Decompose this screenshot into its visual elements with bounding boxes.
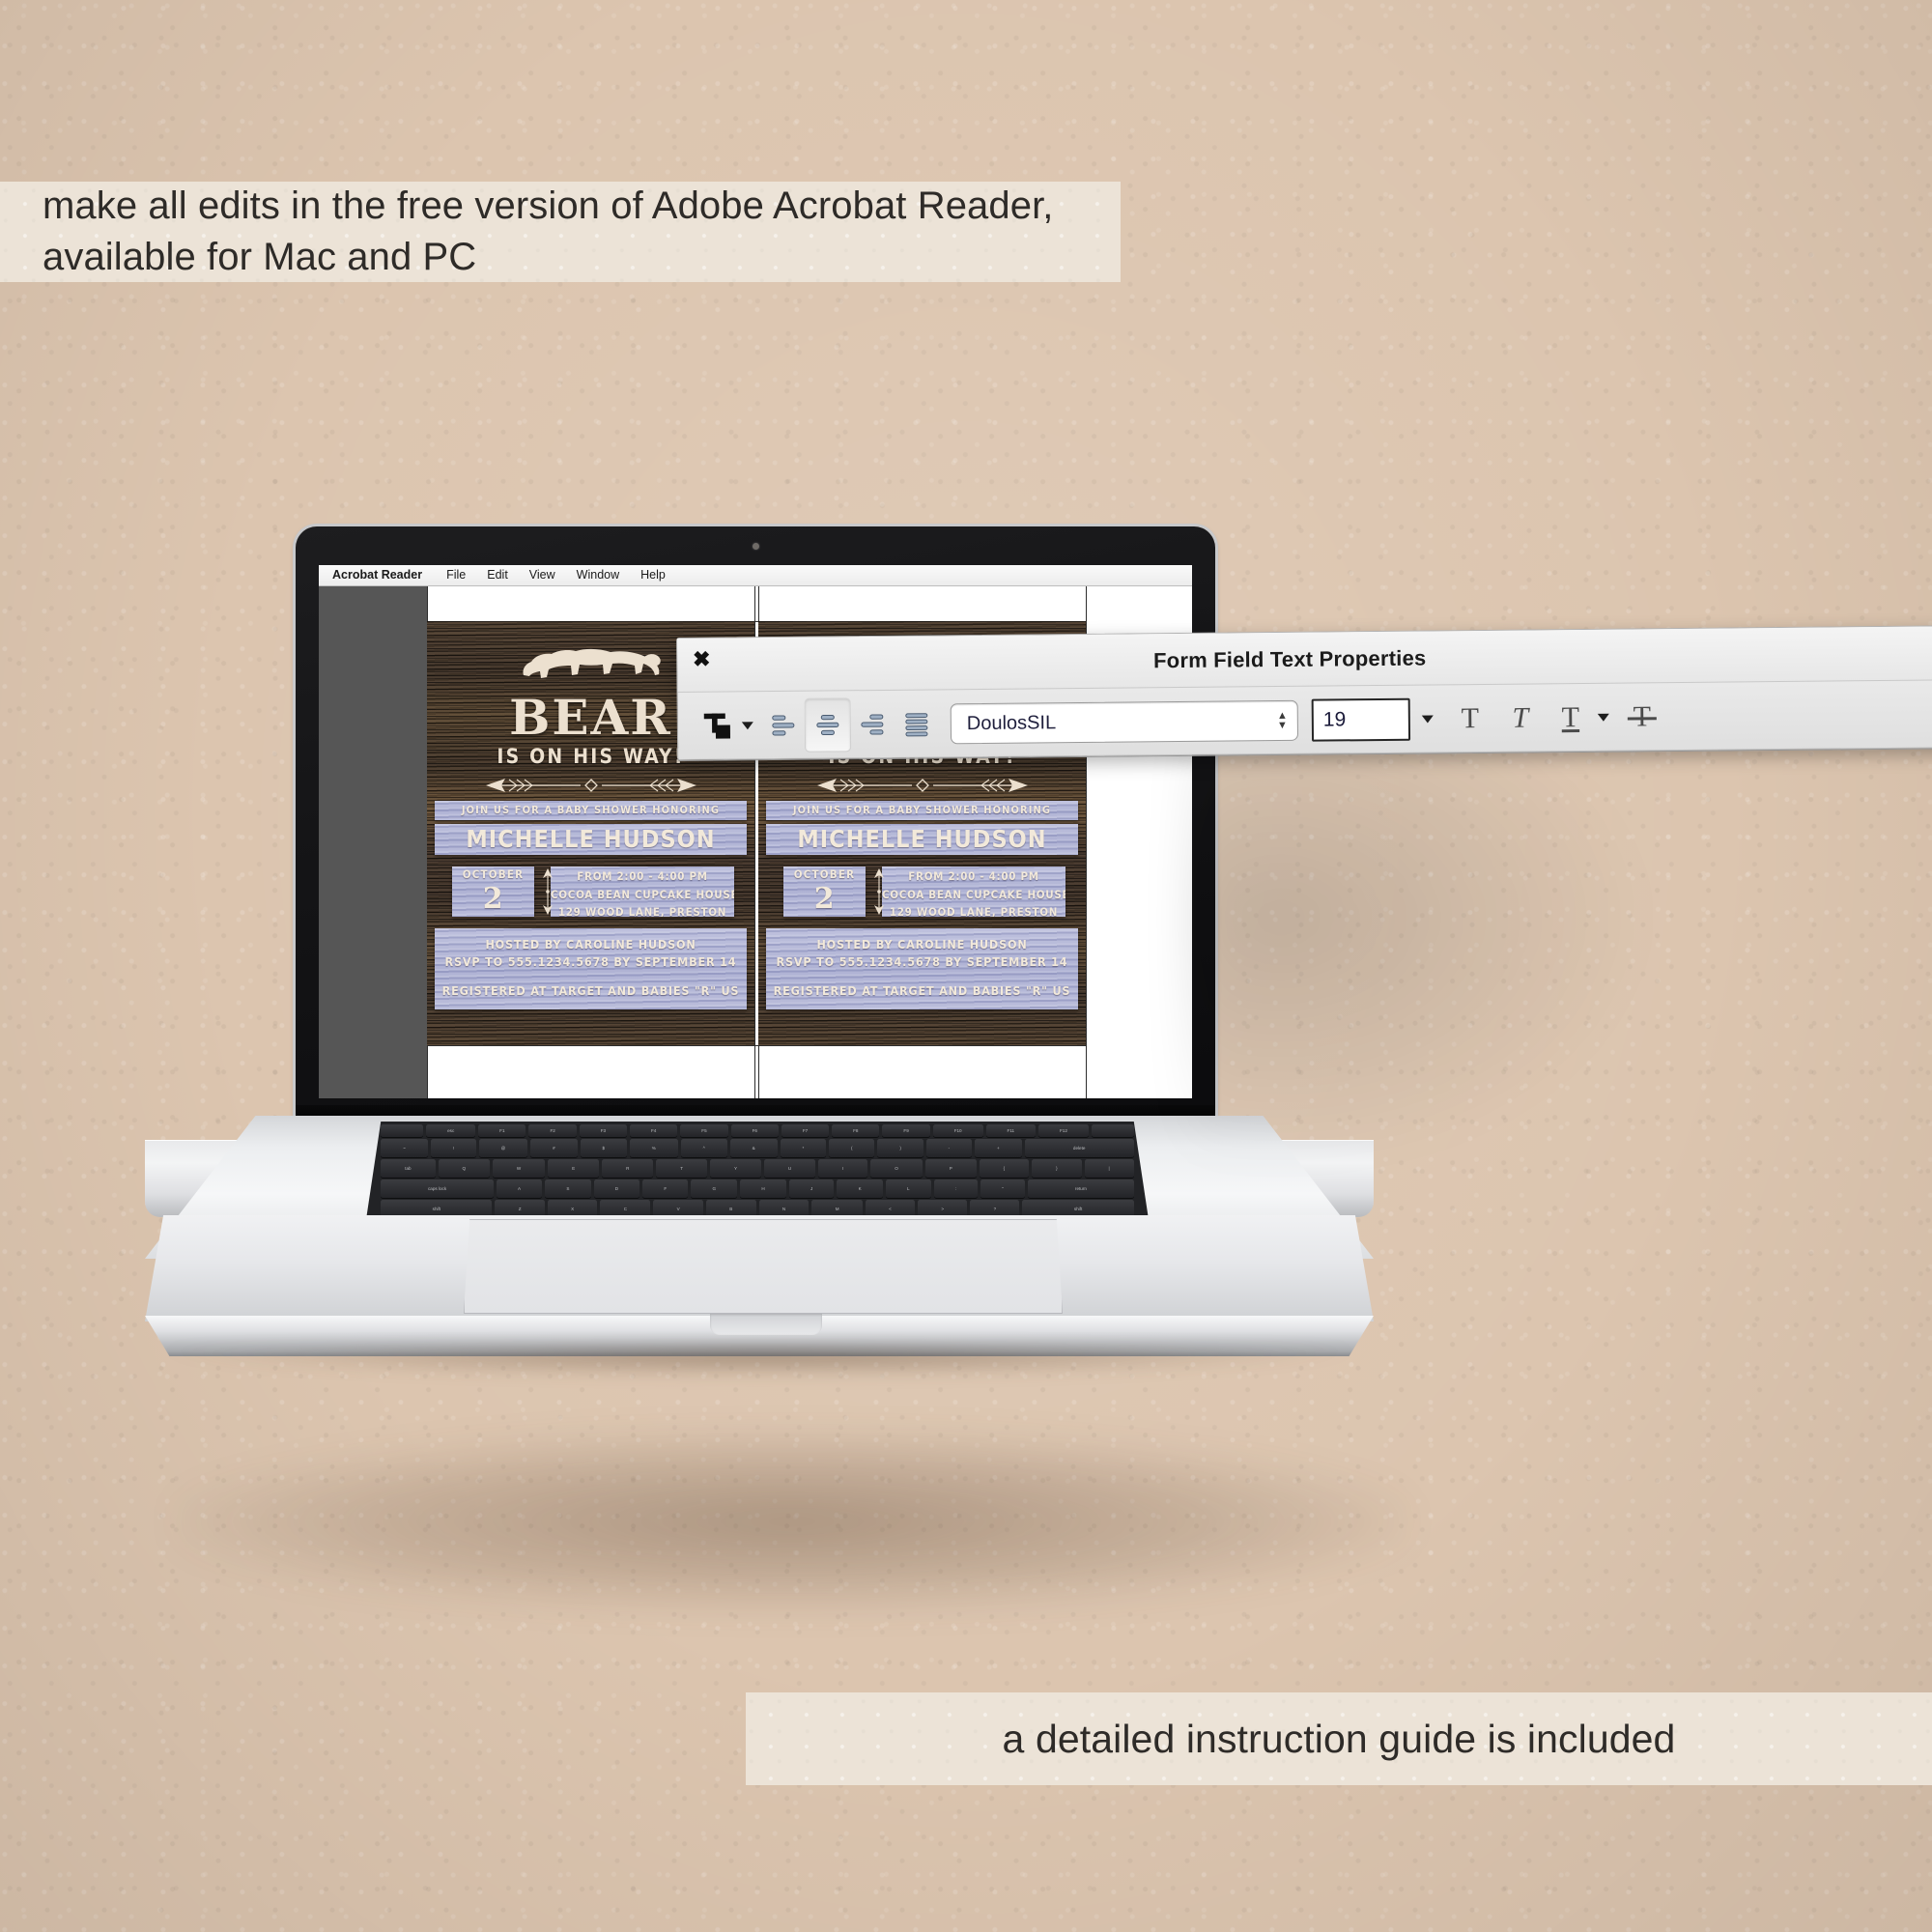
keyboard-key[interactable]: Y <box>710 1159 761 1178</box>
align-justify-icon <box>902 709 931 738</box>
keyboard-key[interactable]: D <box>594 1179 640 1198</box>
keyboard-key[interactable]: F7 <box>781 1124 829 1137</box>
menu-item-help[interactable]: Help <box>630 565 676 585</box>
font-family-value: DoulosSIL <box>967 710 1277 735</box>
base-contact-shadow <box>164 1349 1354 1378</box>
host-plaque: HOSTED BY CAROLINE HUDSON RSVP TO 555.12… <box>435 928 747 1009</box>
keyboard-row-qwerty: tabQWERTYUIOP{}| <box>381 1159 1134 1178</box>
keyboard-key[interactable]: - <box>926 1139 972 1157</box>
arrow-divider <box>427 776 754 795</box>
registry-text: REGISTERED AT TARGET AND BABIES "R" US <box>766 982 1078 1000</box>
keyboard-row-number: ~!@#$%^&*()-+delete <box>381 1139 1134 1157</box>
vertical-arrow-icon <box>872 868 886 915</box>
spacer <box>766 971 1078 982</box>
menu-item-acrobat-reader[interactable]: Acrobat Reader <box>332 565 436 585</box>
rsvp-text: RSVP TO 555.1234.5678 BY SEPTEMBER 14 <box>435 953 747 971</box>
align-right-icon <box>858 710 887 739</box>
dialog-title: Form Field Text Properties <box>677 639 1932 677</box>
vertical-arrow-icon <box>541 868 554 915</box>
caption-top: make all edits in the free version of Ad… <box>0 182 1121 282</box>
date-plaque: OCTOBER 2 <box>783 867 866 917</box>
menu-item-window[interactable]: Window <box>566 565 630 585</box>
laptop-lid: Acrobat Reader File Edit View Window Hel… <box>296 526 1215 1130</box>
trackpad[interactable] <box>464 1219 1063 1314</box>
date-month-text: OCTOBER <box>783 867 866 883</box>
align-center-button[interactable] <box>806 698 851 751</box>
text-properties-button[interactable] <box>696 699 741 752</box>
font-family-stepper-icon[interactable]: ▲▼ <box>1277 711 1288 729</box>
honoree-name-text: MICHELLE HUDSON <box>435 824 747 855</box>
host-plaque: HOSTED BY CAROLINE HUDSON RSVP TO 555.12… <box>766 928 1078 1009</box>
font-size-input[interactable]: 19 <box>1312 698 1410 742</box>
keyboard-key[interactable]: A <box>497 1179 542 1198</box>
underline-button[interactable]: T <box>1546 694 1596 742</box>
strikethrough-button[interactable]: T <box>1617 693 1667 741</box>
underline-dropdown-caret[interactable] <box>1598 714 1609 722</box>
keyboard-key[interactable]: ~ <box>381 1139 427 1157</box>
keyboard-key[interactable]: tab <box>381 1159 435 1178</box>
keyboard-key[interactable]: W <box>493 1159 545 1178</box>
event-details-plaque: FROM 2:00 - 4:00 PM COCOA BEAN CUPCAKE H… <box>551 867 734 917</box>
keyboard-key[interactable]: ) <box>877 1139 923 1157</box>
keyboard-key[interactable]: F11 <box>986 1124 1036 1137</box>
honoring-text: JOIN US FOR A BABY SHOWER HONORING <box>435 801 747 820</box>
keyboard-keys[interactable]: escF1F2F3F4F5F6F7F8F9F10F11F12 ~!@#$%^&*… <box>365 1122 1150 1226</box>
keyboard-key[interactable]: & <box>730 1139 778 1157</box>
keyboard-key[interactable]: F8 <box>832 1124 879 1137</box>
honoring-plaque: JOIN US FOR A BABY SHOWER HONORING <box>435 801 747 820</box>
keyboard-key[interactable]: S <box>545 1179 590 1198</box>
keyboard-key[interactable]: : <box>934 1179 979 1198</box>
keyboard-row-home: caps lockASDFGHJKL:"return <box>381 1179 1134 1198</box>
keyboard-key[interactable]: { <box>980 1159 1029 1178</box>
rsvp-text: RSVP TO 555.1234.5678 BY SEPTEMBER 14 <box>766 953 1078 971</box>
menu-bar: Acrobat Reader File Edit View Window Hel… <box>319 565 1192 586</box>
caption-bottom: a detailed instruction guide is included <box>746 1692 1932 1785</box>
keyboard-key[interactable]: K <box>837 1179 882 1198</box>
keyboard-key[interactable]: H <box>740 1179 786 1198</box>
navigation-panel[interactable] <box>319 586 427 1098</box>
keyboard-key[interactable]: F2 <box>528 1124 576 1137</box>
keyboard-key[interactable]: F1 <box>478 1124 526 1137</box>
menu-item-file[interactable]: File <box>436 565 476 585</box>
keyboard-key[interactable]: | <box>1085 1159 1134 1178</box>
arrow-divider <box>758 776 1086 795</box>
registry-text: REGISTERED AT TARGET AND BABIES "R" US <box>435 982 747 1000</box>
honoree-name-plaque: MICHELLE HUDSON <box>766 824 1078 855</box>
event-venue-text: COCOA BEAN CUPCAKE HOUSE <box>551 885 734 903</box>
close-icon[interactable]: ✖ <box>691 649 712 670</box>
laptop-drop-shadow <box>174 1430 1410 1613</box>
keyboard-key[interactable]: L <box>886 1179 931 1198</box>
keyboard-key[interactable]: } <box>1032 1159 1081 1178</box>
keyboard-key[interactable] <box>1092 1124 1134 1137</box>
keyboard-key[interactable]: F12 <box>1038 1124 1089 1137</box>
honoree-name-plaque: MICHELLE HUDSON <box>435 824 747 855</box>
font-size-value: 19 <box>1323 708 1347 731</box>
keyboard-key[interactable]: ^ <box>681 1139 727 1157</box>
date-month-text: OCTOBER <box>452 867 534 883</box>
arrow-divider-icon <box>811 777 1034 794</box>
text-properties-dropdown-caret[interactable] <box>742 722 753 729</box>
keyboard-key[interactable]: O <box>870 1159 922 1178</box>
align-right-button[interactable] <box>850 698 895 751</box>
text-properties-icon <box>701 709 734 742</box>
keyboard-key[interactable]: esc <box>426 1124 475 1137</box>
keyboard-key[interactable]: @ <box>479 1139 527 1157</box>
menu-item-view[interactable]: View <box>519 565 566 585</box>
spacer <box>435 971 747 982</box>
align-left-icon <box>769 711 798 740</box>
date-day-text: 2 <box>783 883 866 916</box>
keyboard-key[interactable]: R <box>602 1159 653 1178</box>
keyboard-key[interactable]: I <box>818 1159 867 1178</box>
keyboard-key[interactable]: P <box>925 1159 977 1178</box>
keyboard-key[interactable]: J <box>789 1179 835 1198</box>
menu-item-edit[interactable]: Edit <box>476 565 519 585</box>
honoring-text: JOIN US FOR A BABY SHOWER HONORING <box>766 801 1078 820</box>
keyboard-key[interactable]: Q <box>439 1159 490 1178</box>
italic-button[interactable]: T <box>1495 694 1546 742</box>
hosted-by-text: HOSTED BY CAROLINE HUDSON <box>766 928 1078 953</box>
keyboard-key[interactable]: E <box>548 1159 599 1178</box>
keyboard-key[interactable]: F9 <box>882 1124 929 1137</box>
keyboard-key[interactable]: G <box>691 1179 737 1198</box>
form-field-text-properties-dialog[interactable]: ✖ Form Field Text Properties <box>676 625 1932 761</box>
font-family-select[interactable]: DoulosSIL ▲▼ <box>951 700 1298 744</box>
front-notch <box>710 1314 822 1335</box>
keyboard-key[interactable] <box>381 1124 423 1137</box>
event-address-text: 129 WOOD LANE, PRESTON <box>551 902 734 917</box>
keyboard-key[interactable]: F3 <box>580 1124 627 1137</box>
event-time-text: FROM 2:00 - 4:00 PM <box>882 867 1065 885</box>
date-plaque: OCTOBER 2 <box>452 867 534 917</box>
keyboard-key[interactable]: delete <box>1025 1139 1134 1157</box>
caption-top-text: make all edits in the free version of Ad… <box>43 181 1054 283</box>
keyboard-key[interactable]: F10 <box>933 1124 983 1137</box>
event-venue-text: COCOA BEAN CUPCAKE HOUSE <box>882 885 1065 903</box>
keyboard-key[interactable]: F4 <box>630 1124 677 1137</box>
keyboard-key[interactable]: $ <box>581 1139 627 1157</box>
caption-bottom-text: a detailed instruction guide is included <box>1003 1717 1676 1762</box>
bold-button[interactable]: T <box>1445 695 1495 743</box>
keyboard-key[interactable]: ( <box>829 1139 874 1157</box>
keyboard-key[interactable]: + <box>975 1139 1021 1157</box>
page-guide-line <box>427 1045 1086 1046</box>
event-address-text: 129 WOOD LANE, PRESTON <box>882 902 1065 917</box>
align-center-icon <box>813 710 842 739</box>
hosted-by-text: HOSTED BY CAROLINE HUDSON <box>435 928 747 953</box>
event-details-plaque: FROM 2:00 - 4:00 PM COCOA BEAN CUPCAKE H… <box>882 867 1065 917</box>
macbook-mockup: Acrobat Reader File Edit View Window Hel… <box>0 0 1932 1932</box>
date-day-text: 2 <box>452 883 534 916</box>
event-time-text: FROM 2:00 - 4:00 PM <box>551 867 734 885</box>
keyboard-key[interactable]: * <box>781 1139 827 1157</box>
keyboard-key[interactable]: " <box>980 1179 1025 1198</box>
honoree-name-text: MICHELLE HUDSON <box>766 824 1078 855</box>
screenshot-stage: Acrobat Reader File Edit View Window Hel… <box>0 0 1932 1932</box>
keyboard-key[interactable]: F <box>642 1179 688 1198</box>
keyboard-key[interactable]: T <box>656 1159 707 1178</box>
keyboard-key[interactable]: ! <box>431 1139 476 1157</box>
keyboard-key[interactable]: U <box>764 1159 815 1178</box>
keyboard-key[interactable]: F5 <box>680 1124 727 1137</box>
keyboard-key[interactable]: # <box>530 1139 577 1157</box>
font-size-dropdown-caret[interactable] <box>1422 715 1434 723</box>
webcam-icon <box>753 543 759 550</box>
keyboard-key[interactable]: caps lock <box>381 1179 494 1198</box>
keyboard-key[interactable]: return <box>1028 1179 1133 1198</box>
arrow-divider-icon <box>480 777 702 794</box>
align-justify-button[interactable] <box>895 697 940 750</box>
keyboard-key[interactable]: % <box>630 1139 678 1157</box>
align-left-button[interactable] <box>761 699 807 752</box>
keyboard-row-function: escF1F2F3F4F5F6F7F8F9F10F11F12 <box>381 1124 1134 1137</box>
keyboard-key[interactable]: F6 <box>731 1124 779 1137</box>
honoring-plaque: JOIN US FOR A BABY SHOWER HONORING <box>766 801 1078 820</box>
